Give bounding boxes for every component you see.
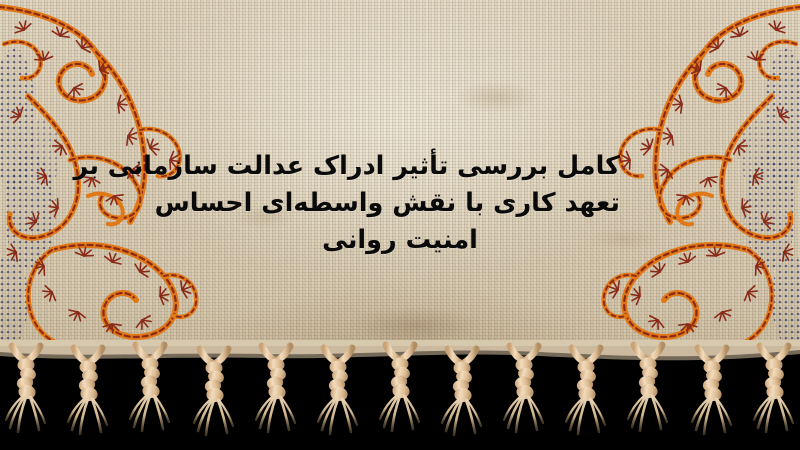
title-line-3: امنیت روانی	[180, 222, 620, 259]
title-line-2: تعهد کاری با نقش واسطه‌ای احساس	[180, 185, 620, 222]
title-line-1: کامل بررسی تأثیر ادراک عدالت سازمانی بر	[180, 148, 620, 185]
slide-title: کامل بررسی تأثیر ادراک عدالت سازمانی بر …	[0, 148, 800, 259]
knotted-tassel-fringe-icon	[0, 340, 800, 450]
slide-canvas: کامل بررسی تأثیر ادراک عدالت سازمانی بر …	[0, 0, 800, 450]
